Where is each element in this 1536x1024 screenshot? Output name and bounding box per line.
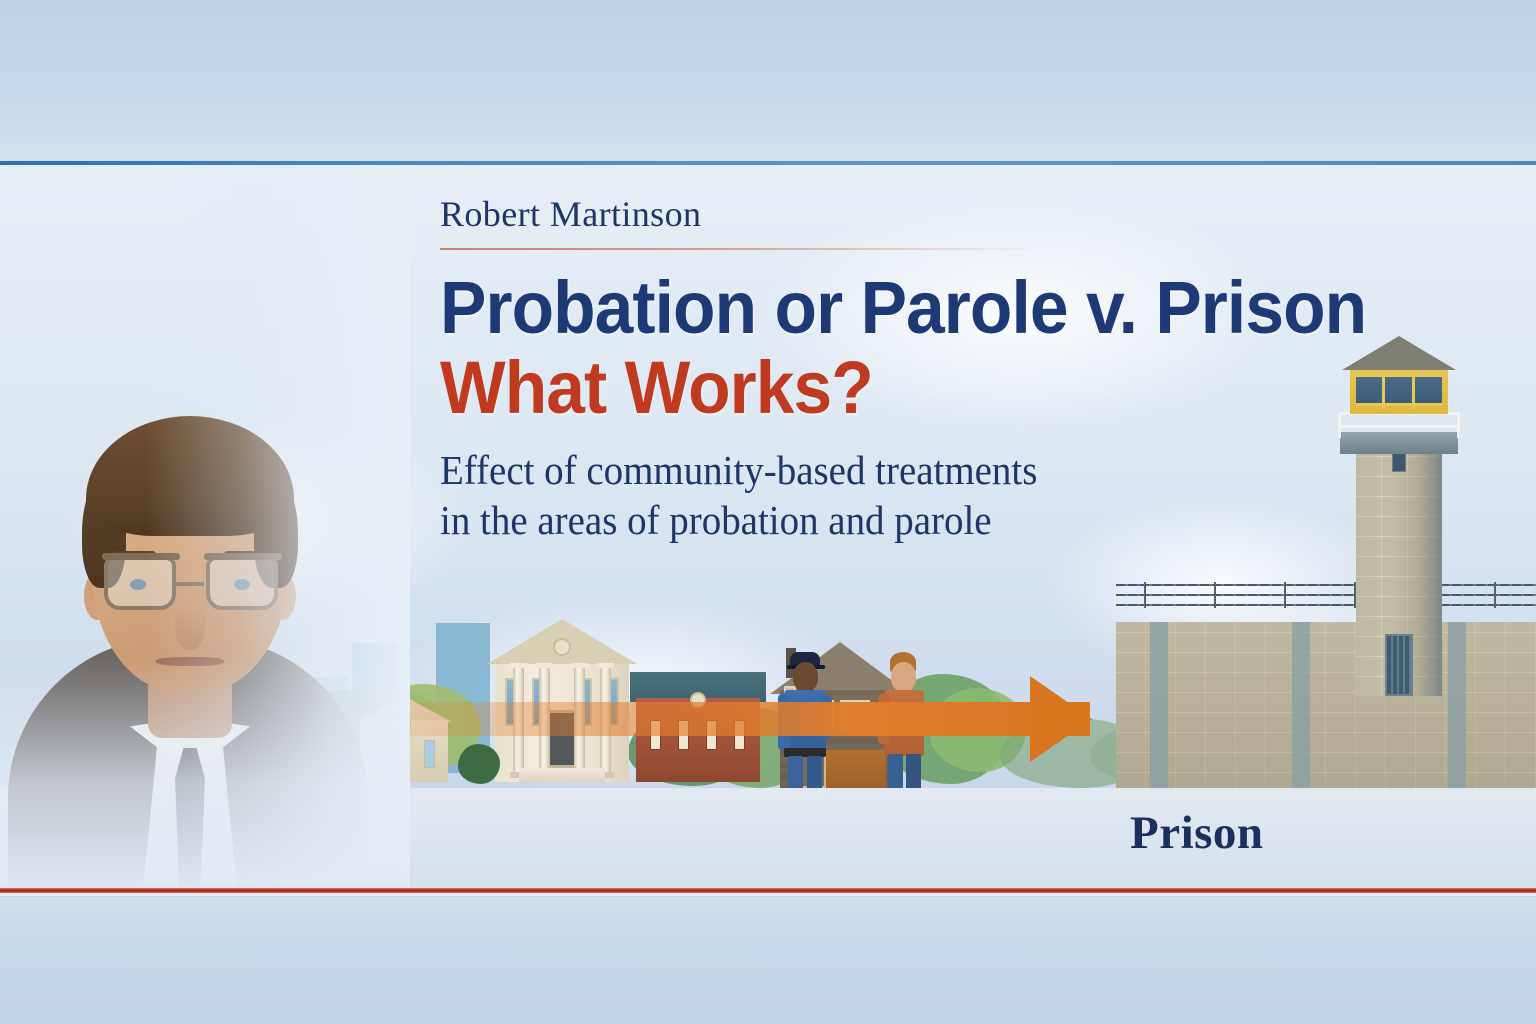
barbed-wire-post <box>1494 582 1496 608</box>
barbed-wire-strand <box>1116 584 1536 586</box>
civic-window <box>424 740 435 768</box>
author-name: Robert Martinson <box>440 195 1450 235</box>
barbed-wire-post <box>1284 582 1286 608</box>
probationer-head <box>891 662 916 692</box>
bottom-band <box>0 897 1536 1024</box>
subtitle-block: Effect of community-based treatments in … <box>440 445 1400 545</box>
barbed-wire-post <box>1144 582 1146 608</box>
headline-block: Robert Martinson Probation or Parole v. … <box>440 195 1450 545</box>
officer-head <box>793 662 818 692</box>
progression-arrow-head <box>1030 676 1092 762</box>
barbed-wire-strand <box>1116 604 1536 606</box>
top-band <box>0 0 1536 163</box>
prison-wall <box>1116 622 1536 792</box>
wall-pilaster <box>1292 622 1310 792</box>
courthouse-seal <box>553 638 571 656</box>
prison-end-label: Prison <box>1130 806 1264 860</box>
tower-door <box>1385 634 1413 696</box>
shrub <box>458 744 500 784</box>
wall-pilaster <box>1150 622 1168 792</box>
author-divider-rule <box>440 248 1040 250</box>
courthouse-building <box>487 607 637 782</box>
barbed-wire-strand <box>1116 594 1536 596</box>
martinson-portrait <box>0 165 410 888</box>
title-line-2: What Works? <box>440 352 1389 425</box>
courthouse-steps <box>519 768 605 782</box>
barbed-wire-post <box>1214 582 1216 608</box>
poster-canvas: ❯❮ <box>0 0 1536 1024</box>
subtitle-line-1: Effect of community-based treatments <box>440 445 1400 495</box>
subtitle-line-2: in the areas of probation and parole <box>440 495 1400 545</box>
red-divider-highlight <box>0 893 1536 896</box>
progression-arrow-shaft <box>330 702 1090 736</box>
portrait-bottom-fade <box>0 658 410 888</box>
illustration-panel: ❯❮ <box>0 165 1536 888</box>
title-line-1: Probation or Parole v. Prison <box>440 272 1389 345</box>
